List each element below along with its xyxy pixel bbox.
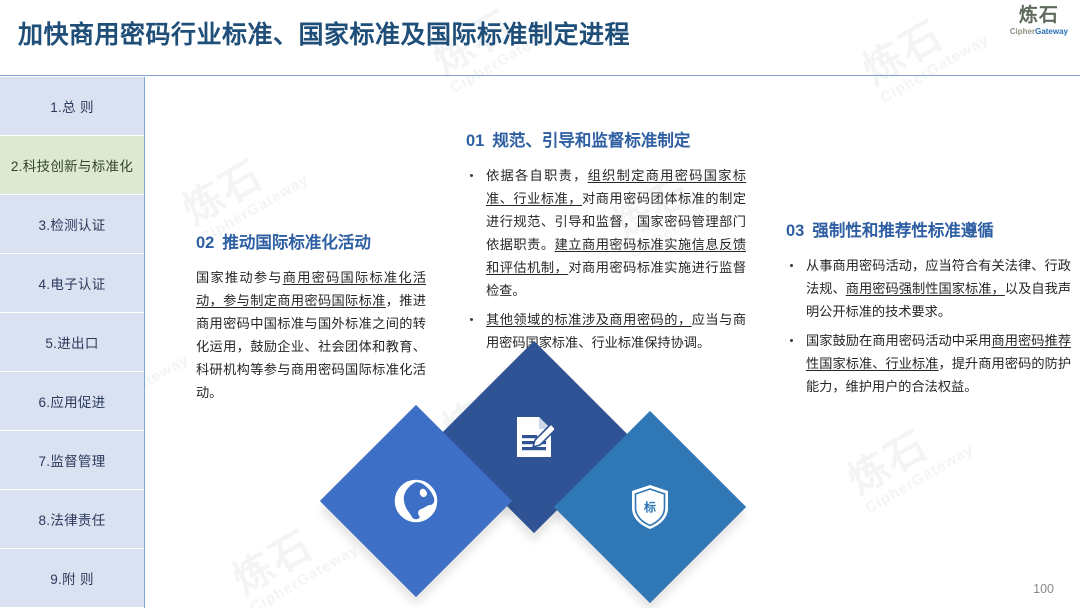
body-text: 依据各自职责， — [486, 168, 588, 183]
globe-icon — [348, 433, 484, 569]
brand-logo: 炼石 CipherGateway — [1010, 6, 1068, 36]
sidebar-item-2[interactable]: 2.科技创新与标准化 — [0, 136, 144, 195]
logo-text-en-gateway: Gateway — [1035, 27, 1068, 36]
sidebar-item-label: 6.应用促进 — [38, 391, 105, 411]
bullet-item: 国家鼓励在商用密码活动中采用商用密码推荐性国家标准、行业标准，提升商用密码的防护… — [786, 330, 1071, 399]
bullet-item: 其他领域的标准涉及商用密码的，应当与商用密码国家标准、行业标准保持协调。 — [466, 309, 746, 355]
logo-text-en-cipher: Cipher — [1010, 27, 1035, 36]
section-block-03: 03强制性和推荐性标准遵循 从事商用密码活动，应当符合有关法律、行政法规、商用密… — [786, 217, 1071, 405]
underlined-text: 其他领域的标准涉及商用密码的， — [486, 312, 692, 327]
section-02-heading: 02推动国际标准化活动 — [196, 229, 426, 253]
sidebar-item-8[interactable]: 8.法律责任 — [0, 490, 144, 549]
section-02-title: 推动国际标准化活动 — [222, 234, 371, 252]
section-block-01: 01规范、引导和监督标准制定 依据各自职责，组织制定商用密码国家标准、行业标准，… — [466, 127, 746, 361]
sidebar-item-9[interactable]: 9.附 则 — [0, 549, 144, 608]
section-01-bullet-list: 依据各自职责，组织制定商用密码国家标准、行业标准，对商用密码团体标准的制定进行规… — [466, 165, 746, 355]
sidebar-item-4[interactable]: 4.电子认证 — [0, 254, 144, 313]
logo-text-cn: 炼石 — [1010, 6, 1068, 25]
slide-content: 01规范、引导和监督标准制定 依据各自职责，组织制定商用密码国家标准、行业标准，… — [146, 77, 1080, 608]
sidebar-item-5[interactable]: 5.进出口 — [0, 313, 144, 372]
sidebar-item-label: 1.总 则 — [50, 96, 94, 116]
section-03-number: 03 — [786, 222, 804, 240]
shield-label: 标 — [644, 498, 656, 515]
bullet-item: 依据各自职责，组织制定商用密码国家标准、行业标准，对商用密码团体标准的制定进行规… — [466, 165, 746, 303]
sidebar-item-6[interactable]: 6.应用促进 — [0, 372, 144, 431]
slide-canvas: 炼石 CipherGateway 炼石 CipherGateway 炼石 Cip… — [0, 0, 1080, 608]
sidebar-item-label: 2.科技创新与标准化 — [11, 155, 133, 175]
page-number: 100 — [1033, 582, 1054, 596]
diamond-standard-shield: 标 — [554, 411, 746, 603]
sidebar-item-label: 4.电子认证 — [38, 273, 105, 293]
logo-text-en: CipherGateway — [1010, 28, 1068, 36]
chapter-sidebar[interactable]: 1.总 则2.科技创新与标准化3.检测认证4.电子认证5.进出口6.应用促进7.… — [0, 77, 145, 608]
page-title: 加快商用密码行业标准、国家标准及国际标准制定进程 — [18, 15, 630, 51]
section-01-number: 01 — [466, 132, 484, 150]
sidebar-item-label: 7.监督管理 — [38, 450, 105, 470]
bullet-item: 从事商用密码活动，应当符合有关法律、行政法规、商用密码强制性国家标准，以及自我声… — [786, 255, 1071, 324]
sidebar-item-7[interactable]: 7.监督管理 — [0, 431, 144, 490]
section-03-title: 强制性和推荐性标准遵循 — [812, 222, 994, 240]
sidebar-item-3[interactable]: 3.检测认证 — [0, 195, 144, 254]
sidebar-item-label: 8.法律责任 — [38, 509, 105, 529]
body-text: 国家鼓励在商用密码活动中采用 — [806, 333, 992, 348]
section-01-heading: 01规范、引导和监督标准制定 — [466, 127, 746, 151]
section-03-bullet-list: 从事商用密码活动，应当符合有关法律、行政法规、商用密码强制性国家标准，以及自我声… — [786, 255, 1071, 399]
slide-header: 加快商用密码行业标准、国家标准及国际标准制定进程 炼石 CipherGatewa… — [0, 0, 1080, 76]
diamond-international — [320, 405, 512, 597]
section-02-number: 02 — [196, 234, 214, 252]
section-03-heading: 03强制性和推荐性标准遵循 — [786, 217, 1071, 241]
underlined-text: 商用密码强制性国家标准， — [846, 281, 1005, 296]
sidebar-item-label: 9.附 则 — [50, 568, 94, 588]
section-01-title: 规范、引导和监督标准制定 — [492, 132, 690, 150]
diamond-graphic-group: 标 — [324, 357, 744, 597]
body-text: 国家推动参与 — [196, 270, 283, 285]
sidebar-item-1[interactable]: 1.总 则 — [0, 77, 144, 136]
sidebar-item-label: 3.检测认证 — [38, 214, 105, 234]
shield-icon: 标 — [582, 439, 718, 575]
sidebar-item-label: 5.进出口 — [45, 332, 98, 352]
